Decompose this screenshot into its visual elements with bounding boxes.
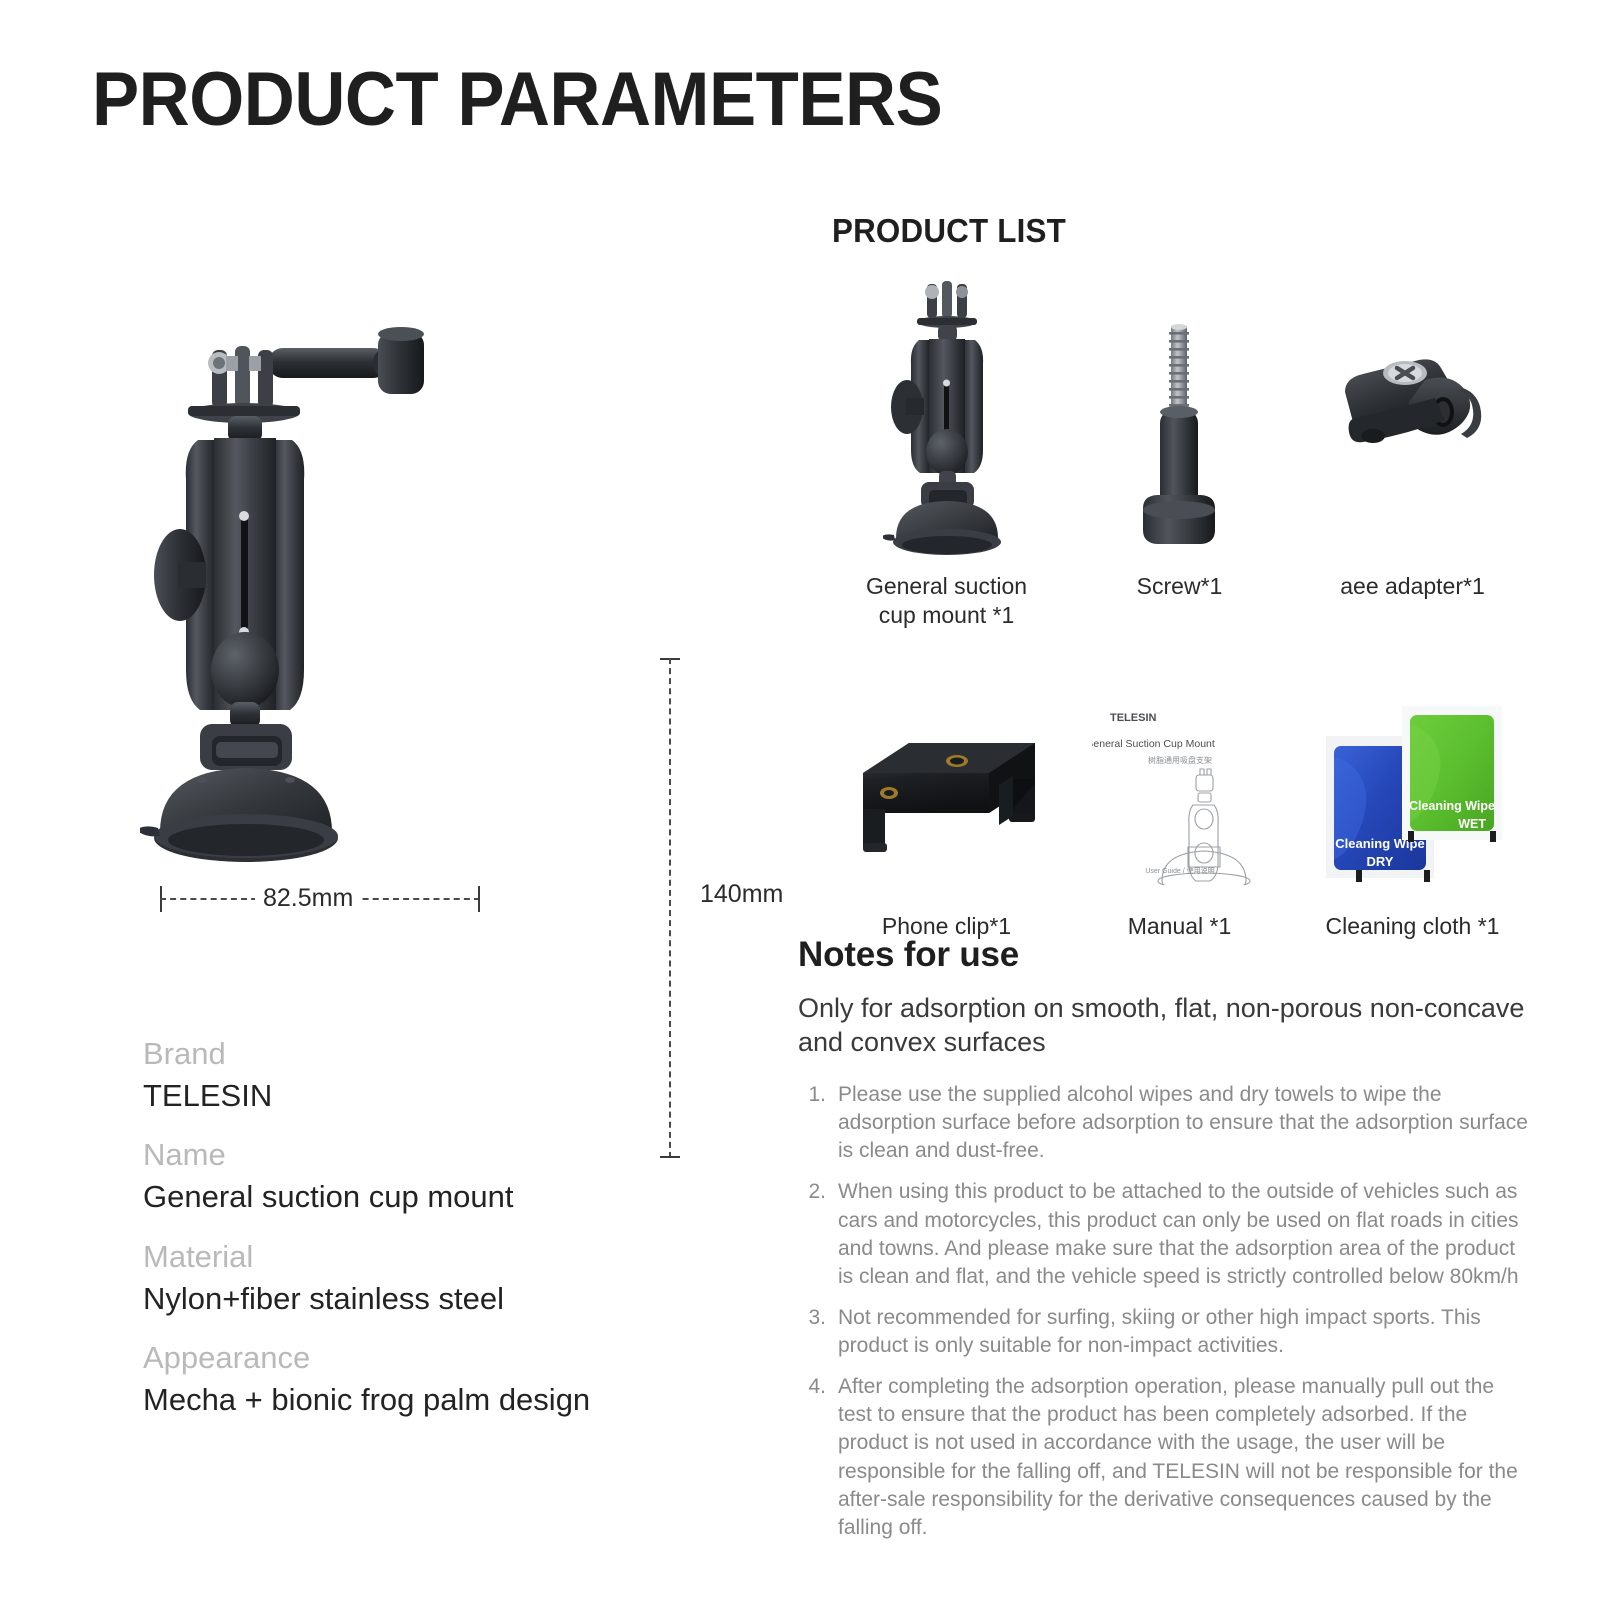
suction-cup-mount-photo xyxy=(140,320,530,890)
cleaning-cloth-thumb: Cleaning Wipe DRY Cleaning Wipe WET xyxy=(1296,683,1529,898)
dimension-width: 82.5mm xyxy=(160,880,480,920)
product-item-suction-cup-mount: General suction cup mount *1 xyxy=(830,268,1063,631)
spec-key-appearance: Appearance xyxy=(143,1336,763,1380)
manual-title: General Suction Cup Mount xyxy=(1092,738,1215,750)
hero-product-figure: 140mm xyxy=(120,300,680,920)
note-number: 2. xyxy=(798,1178,838,1291)
product-list-row-1: General suction cup mount *1 xyxy=(830,268,1530,631)
manual-subtitle-cn: 树脂通用吸盘支架 xyxy=(1148,755,1212,765)
note-text: When using this product to be attached t… xyxy=(838,1178,1528,1291)
product-item-caption: Screw*1 xyxy=(1137,572,1223,601)
product-item-aee-adapter: aee adapter*1 xyxy=(1296,268,1529,631)
spec-value-brand: TELESIN xyxy=(143,1076,763,1116)
dimension-width-cap-right xyxy=(478,886,480,912)
aee-adapter-thumb xyxy=(1296,268,1529,558)
note-item: 1. Please use the supplied alcohol wipes… xyxy=(798,1081,1528,1165)
product-item-screw: Screw*1 xyxy=(1063,268,1296,631)
note-number: 3. xyxy=(798,1304,838,1360)
spec-key-material: Material xyxy=(143,1235,763,1279)
notes-heading: Notes for use xyxy=(798,935,1528,975)
spec-key-name: Name xyxy=(143,1133,763,1177)
dimension-width-label: 82.5mm xyxy=(255,884,361,913)
product-item-manual: TELESIN General Suction Cup Mount 树脂通用吸盘… xyxy=(1063,683,1296,941)
product-list-grid: General suction cup mount *1 xyxy=(830,268,1530,941)
manual-footer: User Guide / 使用说明 xyxy=(1145,866,1214,875)
spec-value-material: Nylon+fiber stainless steel xyxy=(143,1279,763,1319)
suction-cup-mount-thumb xyxy=(830,268,1063,558)
spec-value-appearance: Mecha + bionic frog palm design xyxy=(143,1380,763,1420)
notes-section: Notes for use Only for adsorption on smo… xyxy=(798,935,1528,1555)
product-item-caption: aee adapter*1 xyxy=(1340,572,1485,601)
note-text: Please use the supplied alcohol wipes an… xyxy=(838,1081,1528,1165)
manual-thumb: TELESIN General Suction Cup Mount 树脂通用吸盘… xyxy=(1063,683,1296,898)
spec-key-brand: Brand xyxy=(143,1032,763,1076)
manual-icon: TELESIN General Suction Cup Mount 树脂通用吸盘… xyxy=(1092,695,1267,885)
dimension-height-label: 140mm xyxy=(700,880,783,909)
screw-icon xyxy=(1125,308,1235,558)
note-item: 4. After completing the adsorption opera… xyxy=(798,1373,1528,1542)
note-item: 2. When using this product to be attache… xyxy=(798,1178,1528,1291)
cleaning-wipes-icon: Cleaning Wipe DRY Cleaning Wipe WET xyxy=(1320,698,1505,883)
product-item-cleaning-cloth: Cleaning Wipe DRY Cleaning Wipe WET xyxy=(1296,683,1529,941)
wet-wipe-label: Cleaning Wipe xyxy=(1409,799,1495,813)
manual-brand: TELESIN xyxy=(1110,712,1157,724)
note-number: 1. xyxy=(798,1081,838,1165)
spec-list: Brand TELESIN Name General suction cup m… xyxy=(143,1032,763,1420)
suction-cup-mount-icon xyxy=(883,276,1011,558)
notes-list: 1. Please use the supplied alcohol wipes… xyxy=(798,1081,1528,1542)
page-title: PRODUCT PARAMETERS xyxy=(92,62,942,138)
note-number: 4. xyxy=(798,1373,838,1542)
phone-clip-icon xyxy=(849,725,1044,855)
aee-adapter-icon xyxy=(1333,340,1493,480)
product-parameters-page: PRODUCT PARAMETERS PRODUCT LIST xyxy=(0,0,1600,1600)
product-item-caption: General suction cup mount *1 xyxy=(866,572,1027,631)
spec-value-name: General suction cup mount xyxy=(143,1177,763,1217)
note-item: 3. Not recommended for surfing, skiing o… xyxy=(798,1304,1528,1360)
product-item-phone-clip: Phone clip*1 xyxy=(830,683,1063,941)
wet-wipe-type: WET xyxy=(1458,817,1486,831)
product-list-row-2: Phone clip*1 TELESIN General Suction Cup… xyxy=(830,683,1530,941)
screw-thumb xyxy=(1063,268,1296,558)
phone-clip-thumb xyxy=(830,683,1063,898)
note-text: Not recommended for surfing, skiing or o… xyxy=(838,1304,1528,1360)
note-text: After completing the adsorption operatio… xyxy=(838,1373,1528,1542)
notes-subtitle: Only for adsorption on smooth, flat, non… xyxy=(798,991,1528,1059)
dry-wipe-type: DRY xyxy=(1367,854,1394,869)
product-list-title: PRODUCT LIST xyxy=(832,212,1066,250)
